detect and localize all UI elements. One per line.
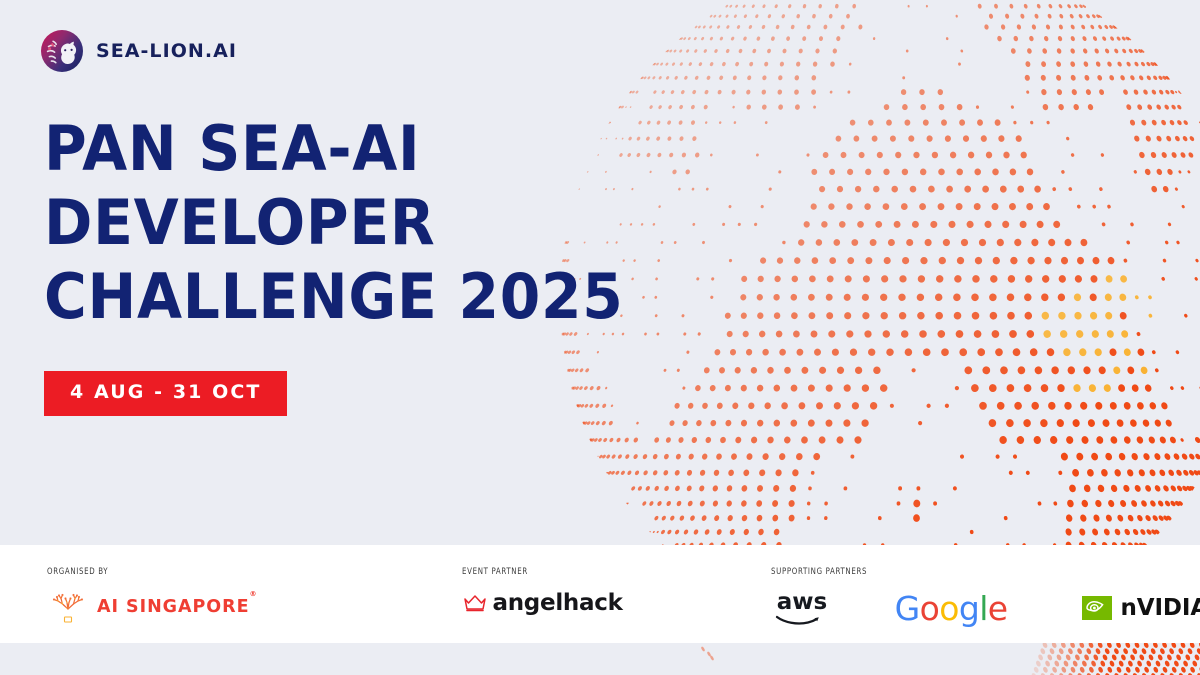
brand-wordmark: SEA-LION.AI bbox=[96, 40, 237, 62]
partner-logo-google[interactable]: G o o g l e bbox=[895, 592, 1008, 625]
aws-wordmark: aws bbox=[776, 590, 826, 615]
partner-group-event-partner: EVENT PARTNER angelhack bbox=[462, 567, 622, 616]
event-date-text: 4 AUG - 31 OCT bbox=[70, 381, 261, 403]
google-letter-e: e bbox=[988, 592, 1008, 625]
nvidia-wordmark: nVIDIA. bbox=[1121, 595, 1200, 621]
google-letter-g2: g bbox=[959, 592, 979, 625]
page-title: PAN SEA-AI DEVELOPER CHALLENGE 2025 bbox=[44, 112, 660, 334]
sea-lion-circle-logo-icon bbox=[40, 29, 84, 73]
ai-singapore-wordmark: AI SINGAPORE® bbox=[97, 597, 257, 617]
title-line-3: CHALLENGE 2025 bbox=[44, 260, 623, 334]
bottom-strip bbox=[0, 643, 1200, 675]
google-letter-g1: G bbox=[895, 592, 920, 625]
partners-footer: ORGANISED BY bbox=[0, 545, 1200, 643]
google-letter-l: l bbox=[979, 592, 988, 625]
partner-group-supporting-partners: SUPPORTING PARTNERS aws G o o bbox=[771, 567, 1200, 626]
ai-singapore-trademark: ® bbox=[250, 590, 258, 598]
partner-group-label: SUPPORTING PARTNERS bbox=[771, 567, 1182, 577]
partner-logo-ai-singapore[interactable]: AI SINGAPORE® bbox=[47, 590, 257, 624]
ai-singapore-wordmark-text: AI SINGAPORE bbox=[97, 597, 250, 617]
aws-smile-icon: aws bbox=[771, 590, 833, 626]
brand-lockup[interactable]: SEA-LION.AI bbox=[40, 29, 237, 73]
aisg-tree-icon bbox=[47, 590, 89, 624]
bottom-strip-globe-dots bbox=[0, 643, 1200, 675]
poster-canvas: SEA-LION.AI PAN SEA-AI DEVELOPER CHALLEN… bbox=[0, 0, 1200, 675]
event-date-badge: 4 AUG - 31 OCT bbox=[44, 371, 287, 416]
title-line-1: PAN SEA-AI bbox=[44, 112, 623, 186]
partner-logo-aws[interactable]: aws bbox=[771, 590, 833, 626]
google-letter-o2: o bbox=[939, 592, 959, 625]
partner-logo-angelhack[interactable]: angelhack bbox=[462, 590, 622, 616]
partner-group-label: ORGANISED BY bbox=[47, 567, 241, 577]
partner-group-label: EVENT PARTNER bbox=[462, 567, 609, 577]
google-letter-o1: o bbox=[920, 592, 940, 625]
nvidia-eye-icon bbox=[1082, 596, 1112, 620]
partner-group-organised-by: ORGANISED BY bbox=[47, 567, 257, 624]
partner-logo-nvidia[interactable]: nVIDIA. bbox=[1082, 595, 1200, 621]
angelhack-wordmark: angelhack bbox=[492, 590, 622, 616]
title-line-2: DEVELOPER bbox=[44, 186, 623, 260]
angelhack-crown-icon bbox=[462, 592, 488, 614]
